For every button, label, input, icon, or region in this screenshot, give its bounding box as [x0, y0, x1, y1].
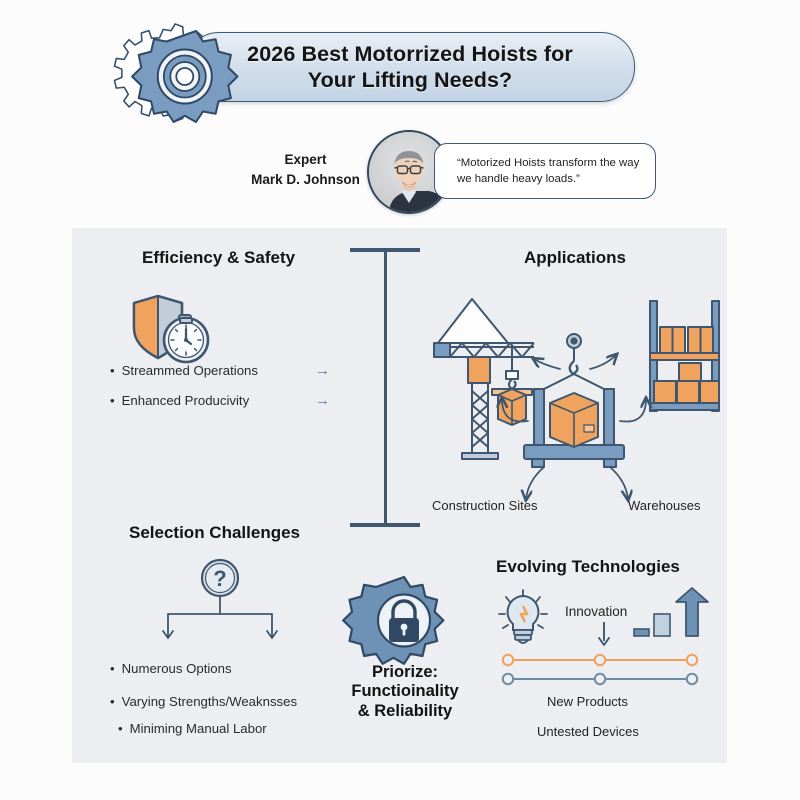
timeline-new-products: [500, 652, 700, 668]
label-construction-sites: Construction Sites: [432, 498, 538, 513]
priority-caption: Priorize: Functioinality & Reliability: [330, 663, 480, 721]
expert-quote: “Motorized Hoists transform the way we h…: [457, 155, 643, 187]
gear-icon: [128, 22, 264, 132]
heading-efficiency: Efficiency & Safety: [142, 248, 295, 268]
label-new-products: New Products: [547, 694, 628, 709]
divider-cap-bottom: [350, 523, 420, 527]
timeline-untested-devices: [500, 671, 700, 687]
innovation-down-arrow-icon: [594, 622, 614, 648]
expert-quote-bubble: “Motorized Hoists transform the way we h…: [434, 143, 656, 199]
bullet-minimizing-manual-labor: Miniming Manual Labor: [118, 721, 267, 736]
title-line-2: Your Lifting Needs?: [308, 68, 513, 92]
lightbulb-icon: [492, 588, 554, 650]
vertical-divider: [384, 248, 387, 526]
bullet-streamlined-operations: Streammed Operations: [110, 363, 258, 378]
infographic-canvas: 2026 Best Motorrized Hoists for Your Lif…: [0, 0, 800, 800]
divider-cap-top: [350, 248, 420, 252]
priority-line-3: & Reliability: [358, 702, 452, 720]
crane: [434, 299, 534, 459]
bullet-enhanced-productivity: Enhanced Producivity: [110, 393, 249, 408]
shield-clock-icon: [128, 292, 220, 370]
bullet-numerous-options: Numerous Options: [110, 661, 232, 676]
selection-tree: ?: [150, 558, 290, 654]
expert-role: Expert: [284, 152, 326, 167]
quote-line-1: “Motorized Hoists transform the way: [457, 157, 639, 169]
svg-text:?: ?: [213, 566, 226, 591]
hoist: [524, 334, 624, 467]
warehouse-rack: [650, 301, 719, 411]
growth-chart-icon: [632, 588, 708, 646]
priority-line-1: Priorize:: [372, 663, 438, 681]
heading-evolving: Evolving Technologies: [496, 557, 680, 577]
arrow-right-icon: →: [315, 392, 330, 409]
bullet-varying-strengths: Varying Strengths/Weaknsses: [110, 694, 297, 709]
label-warehouses: Warehouses: [628, 498, 701, 513]
gear-lock-icon: [358, 575, 450, 663]
label-untested-devices: Untested Devices: [537, 724, 639, 739]
heading-selection: Selection Challenges: [129, 523, 300, 543]
expert-credit: Expert Mark D. Johnson: [243, 150, 368, 189]
title-line-1: 2026 Best Motorrized Hoists for: [247, 42, 573, 66]
page-title: 2026 Best Motorrized Hoists for Your Lif…: [221, 41, 599, 93]
priority-line-2: Functioinality: [351, 682, 458, 700]
quote-line-2: we handle heavy loads.”: [457, 173, 580, 185]
arrow-right-icon: →: [315, 362, 330, 379]
applications-diagram: [424, 285, 724, 495]
expert-name: Mark D. Johnson: [251, 172, 360, 187]
label-innovation: Innovation: [565, 604, 627, 619]
heading-applications: Applications: [524, 248, 626, 268]
